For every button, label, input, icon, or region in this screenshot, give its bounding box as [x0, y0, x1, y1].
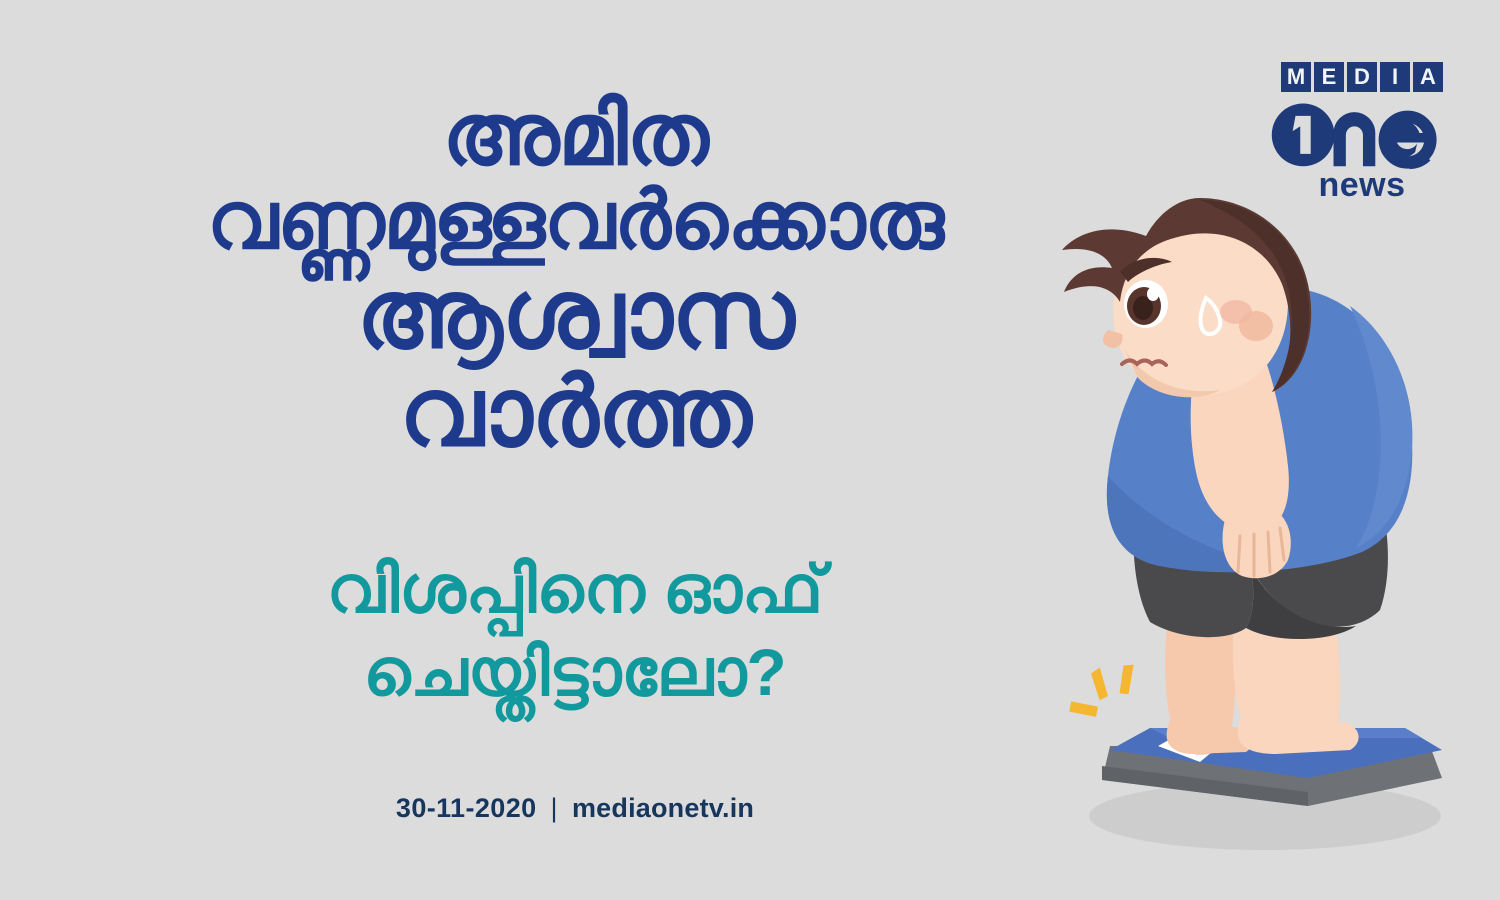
cheek-blush	[1220, 300, 1252, 324]
logo-letter-e: E	[1314, 62, 1344, 92]
headline-line-4: വാർത്ത	[60, 364, 1090, 462]
headline-line-1: അമിത	[60, 92, 1090, 180]
logo-letter-m: M	[1281, 62, 1311, 92]
poster-canvas: M E D I A news അമിത വണ്ണമുള്ളവർക്കൊ	[0, 0, 1500, 900]
hand	[1223, 514, 1291, 578]
headline: അമിത വണ്ണമുള്ളവർക്കൊരു ആശ്വാസ വാർത്ത	[60, 92, 1090, 462]
subheadline-line-2: ചെയ്തിട്ടാലോ?	[60, 631, 1090, 714]
logo-media-letters: M E D I A	[1262, 62, 1462, 92]
headline-line-3: ആശ്വാസ	[60, 266, 1090, 364]
logo-letter-i: I	[1380, 62, 1410, 92]
footer-separator: |	[551, 793, 558, 823]
footer: 30-11-2020|mediaonetv.in	[60, 793, 1090, 824]
headline-line-2: വണ്ണമുള്ളവർക്കൊരു	[60, 180, 1090, 263]
impact-marks-yellow	[1068, 663, 1133, 719]
right-foot	[1238, 720, 1359, 754]
illustration-overweight-boy-on-scale	[1050, 180, 1480, 870]
subheadline-line-1: വിശപ്പിനെ ഓഫ്	[60, 548, 1090, 631]
logo-letter-d: D	[1347, 62, 1377, 92]
eye-highlight	[1147, 287, 1159, 301]
publish-date: 30-11-2020	[396, 793, 537, 823]
logo-letter-a: A	[1413, 62, 1443, 92]
website-url[interactable]: mediaonetv.in	[572, 793, 754, 823]
subheadline: വിശപ്പിനെ ഓഫ് ചെയ്തിട്ടാലോ?	[60, 548, 1090, 713]
logo-one-wordmark	[1262, 94, 1462, 172]
